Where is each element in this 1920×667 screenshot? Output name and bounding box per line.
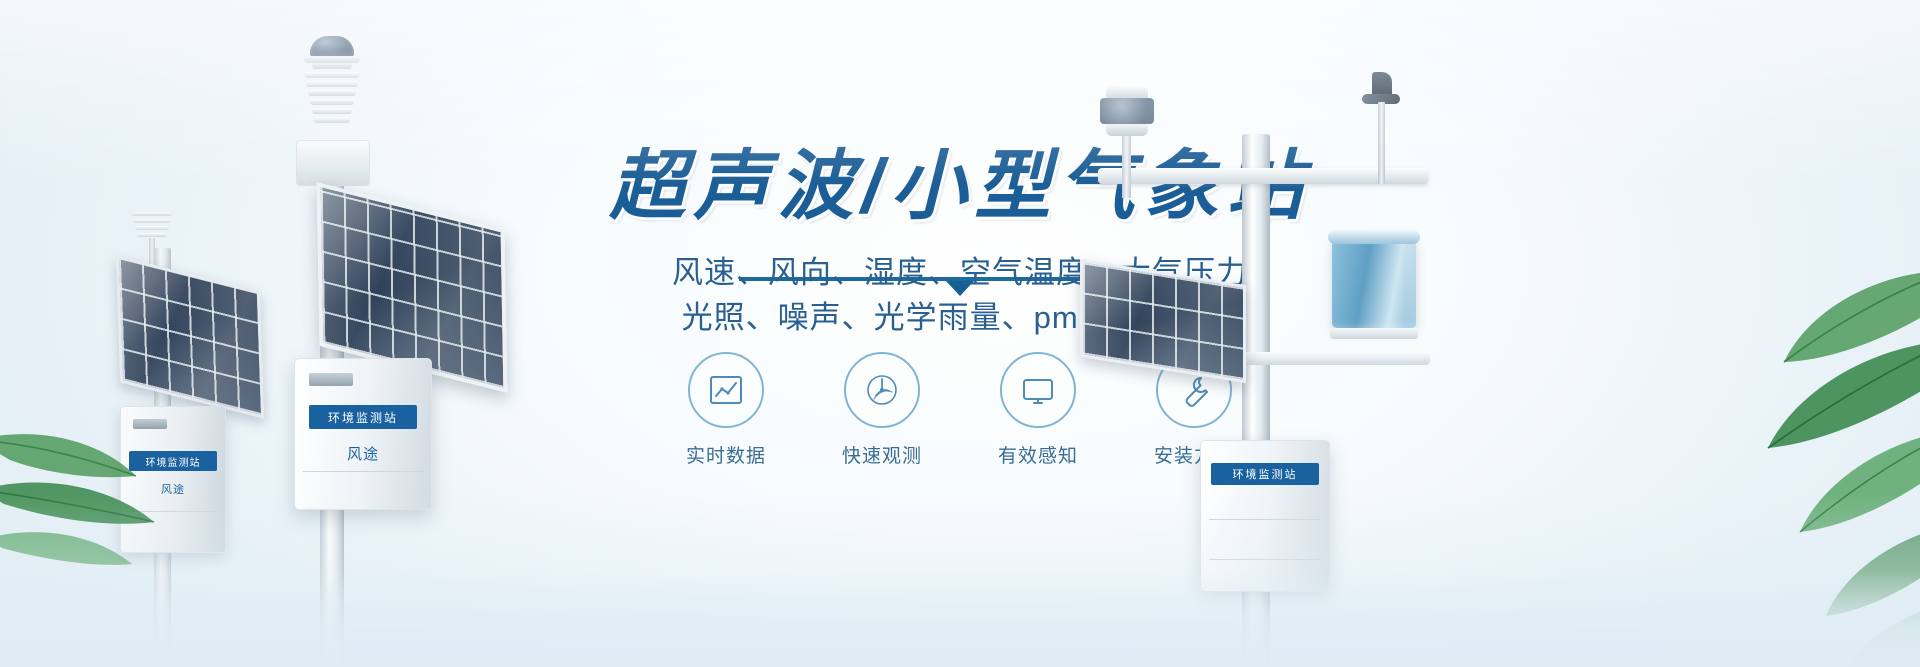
line-chart-icon xyxy=(688,352,764,428)
ground-gradient xyxy=(0,571,1920,667)
brand-logo-text: 风途 xyxy=(295,443,431,464)
solar-panel xyxy=(116,255,264,418)
feature-item-realtime-data[interactable]: 实时数据 xyxy=(681,352,771,468)
cabinet-seam xyxy=(1209,559,1321,560)
cabinet-label: 环境监测站 xyxy=(1211,463,1319,485)
leaf-decoration-left xyxy=(0,406,226,576)
radiation-shield-sensor-icon xyxy=(132,210,172,252)
cabinet-label: 环境监测站 xyxy=(309,405,417,429)
ultrasonic-wind-sensor-icon xyxy=(1096,86,1158,168)
cabinet-vent xyxy=(309,373,353,386)
radiation-shield-stack-icon xyxy=(300,70,364,134)
feature-item-fast-observation[interactable]: 快速观测 xyxy=(837,352,927,468)
cabinet-seam xyxy=(1209,519,1321,520)
wind-vane-icon xyxy=(1360,72,1402,168)
ultrasonic-wind-sensor-icon xyxy=(304,36,360,70)
control-cabinet: 环境监测站 xyxy=(1200,440,1330,592)
solar-panel xyxy=(1080,259,1246,383)
cabinet-seam xyxy=(303,471,423,472)
feature-label: 快速观测 xyxy=(837,441,927,468)
control-cabinet: 环境监测站 风途 xyxy=(294,358,432,510)
radar-signal-icon xyxy=(844,352,920,428)
sensor-housing xyxy=(296,140,370,186)
feature-label: 实时数据 xyxy=(681,441,771,468)
product-banner: 环境监测站 风途 环境监测站 风途 xyxy=(0,0,1920,667)
rain-gauge-icon xyxy=(1328,228,1420,356)
